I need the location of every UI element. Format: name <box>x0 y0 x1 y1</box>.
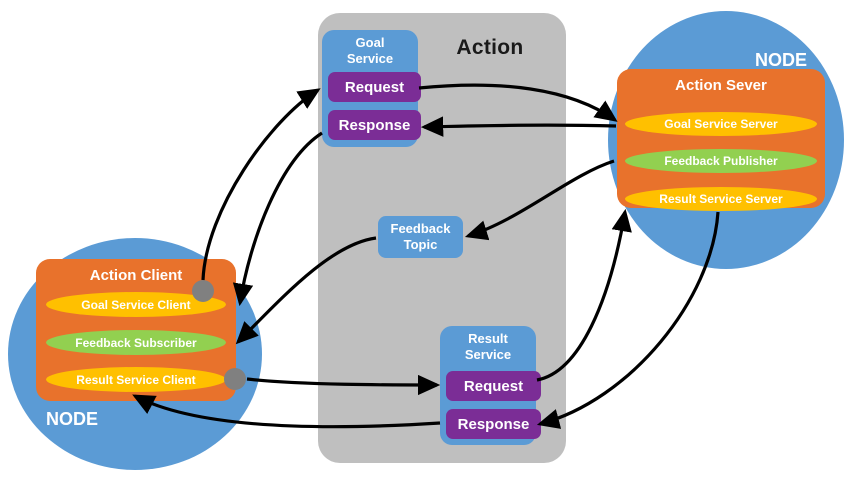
pill-feedback-publisher: Feedback Publisher <box>625 149 817 173</box>
action-server-title: Action Sever <box>617 77 825 94</box>
goal-service-request: Request <box>328 72 421 102</box>
result-service-title: Result Service <box>440 331 536 363</box>
connector-dot-goal-client <box>192 280 214 302</box>
diagram-canvas: Action NODE NODE Action Client Goal Serv… <box>0 0 854 480</box>
action-panel-title: Action <box>430 36 550 60</box>
pill-goal-service-server: Goal Service Server <box>625 112 817 136</box>
goal-service-title-line1: Goal <box>356 35 385 50</box>
goal-service-title-line2: Service <box>347 51 393 66</box>
feedback-topic-label: Feedback Topic <box>391 221 451 253</box>
result-service-response: Response <box>446 409 541 439</box>
result-service-title-line1: Result <box>468 331 508 346</box>
result-service-box: Result Service Request Response <box>440 326 536 445</box>
feedback-topic-line1: Feedback <box>391 221 451 236</box>
arrow-goal-response-to-client <box>240 133 322 303</box>
feedback-topic-line2: Topic <box>404 237 438 252</box>
goal-service-title: Goal Service <box>322 35 418 67</box>
node-label-client: NODE <box>46 409 98 430</box>
pill-result-service-client: Result Service Client <box>46 367 226 392</box>
result-service-title-line2: Service <box>465 347 511 362</box>
goal-service-box: Goal Service Request Response <box>322 30 418 147</box>
feedback-topic-box: Feedback Topic <box>378 216 463 258</box>
connector-dot-result-client <box>224 368 246 390</box>
arrow-goal-client-to-request <box>203 90 318 280</box>
node-label-server: NODE <box>755 50 807 71</box>
action-server-box: Action Sever Goal Service Server Feedbac… <box>617 69 825 208</box>
goal-service-response: Response <box>328 110 421 140</box>
pill-feedback-subscriber: Feedback Subscriber <box>46 330 226 355</box>
result-service-request: Request <box>446 371 541 401</box>
pill-result-service-server: Result Service Server <box>625 187 817 211</box>
